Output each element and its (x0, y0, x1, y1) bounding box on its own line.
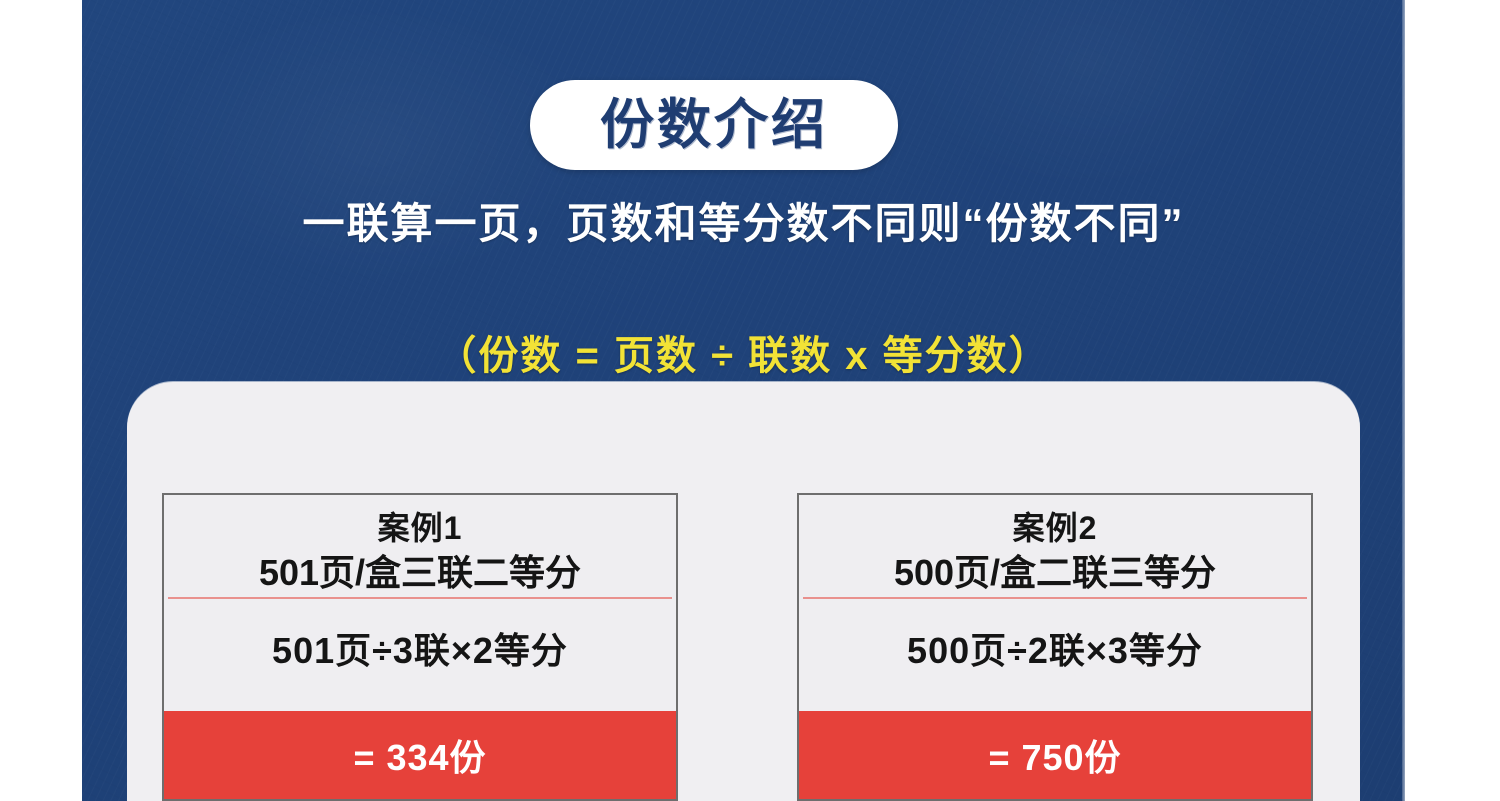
cases-row: 案例1 501页/盒三联二等分 501页÷3联×2等分 = 334份 案例2 5… (162, 493, 1313, 801)
case-2-header: 案例2 500页/盒二联三等分 (799, 495, 1311, 597)
poster-right-edge (1402, 0, 1405, 801)
case-1-result: = 334份 (164, 711, 676, 799)
case-1-spec: 501页/盒三联二等分 (164, 551, 676, 594)
cases-card: 案例1 501页/盒三联二等分 501页÷3联×2等分 = 334份 案例2 5… (127, 382, 1360, 801)
poster-page: 份数介绍 一联算一页，页数和等分数不同则“份数不同” （份数 = 页数 ÷ 联数… (0, 0, 1500, 801)
case-2-label: 案例2 (799, 510, 1311, 548)
navy-poster-background: 份数介绍 一联算一页，页数和等分数不同则“份数不同” （份数 = 页数 ÷ 联数… (82, 0, 1405, 801)
page-title: 份数介绍 (600, 98, 828, 152)
case-2-calculation: 500页÷2联×3等分 (799, 599, 1311, 711)
case-table-1: 案例1 501页/盒三联二等分 501页÷3联×2等分 = 334份 (162, 493, 678, 801)
case-table-2: 案例2 500页/盒二联三等分 500页÷2联×3等分 = 750份 (797, 493, 1313, 801)
case-1-calculation: 501页÷3联×2等分 (164, 599, 676, 711)
case-2-spec: 500页/盒二联三等分 (799, 551, 1311, 594)
formula-text: （份数 = 页数 ÷ 联数 x 等分数） (82, 331, 1405, 381)
case-1-label: 案例1 (164, 510, 676, 548)
section-title-pill: 份数介绍 (530, 80, 898, 170)
subtitle-text: 一联算一页，页数和等分数不同则“份数不同” (82, 198, 1405, 251)
case-2-result: = 750份 (799, 711, 1311, 799)
case-1-header: 案例1 501页/盒三联二等分 (164, 495, 676, 597)
